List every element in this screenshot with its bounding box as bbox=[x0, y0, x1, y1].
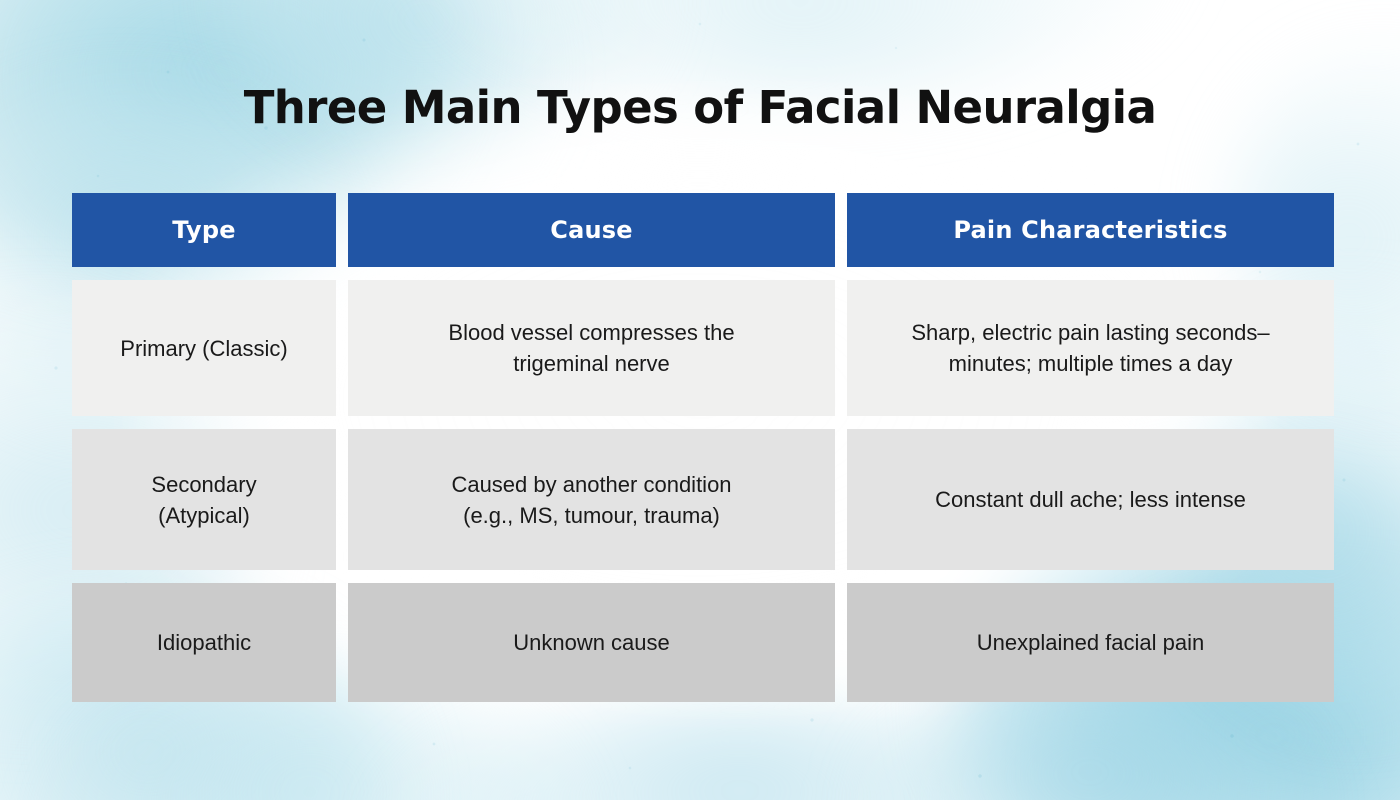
table-header-row: Type Cause Pain Characteristics bbox=[72, 193, 1334, 267]
cell-pain-idiopathic: Unexplained facial pain bbox=[847, 583, 1334, 702]
table-row: Secondary (Atypical) Caused by another c… bbox=[72, 429, 1334, 570]
cell-cause-primary-text: Blood vessel compresses the trigeminal n… bbox=[448, 317, 734, 379]
column-header-pain-characteristics-label: Pain Characteristics bbox=[953, 216, 1227, 244]
cell-pain-secondary-text: Constant dull ache; less intense bbox=[935, 484, 1246, 515]
cell-cause-idiopathic: Unknown cause bbox=[348, 583, 835, 702]
column-header-cause: Cause bbox=[348, 193, 835, 267]
column-header-type: Type bbox=[72, 193, 336, 267]
slide-content: Three Main Types of Facial Neuralgia Typ… bbox=[0, 0, 1400, 800]
cell-type-secondary: Secondary (Atypical) bbox=[72, 429, 336, 570]
cell-type-idiopathic: Idiopathic bbox=[72, 583, 336, 702]
cell-type-primary-text: Primary (Classic) bbox=[120, 333, 287, 364]
cell-type-secondary-text: Secondary (Atypical) bbox=[151, 469, 256, 531]
page-title: Three Main Types of Facial Neuralgia bbox=[0, 80, 1400, 136]
cell-cause-secondary: Caused by another condition (e.g., MS, t… bbox=[348, 429, 835, 570]
cell-pain-idiopathic-text: Unexplained facial pain bbox=[977, 627, 1205, 658]
column-header-cause-label: Cause bbox=[550, 216, 632, 244]
neuralgia-types-table: Type Cause Pain Characteristics Primary … bbox=[72, 193, 1334, 702]
cell-cause-idiopathic-text: Unknown cause bbox=[513, 627, 670, 658]
table-row: Idiopathic Unknown cause Unexplained fac… bbox=[72, 583, 1334, 702]
table-row: Primary (Classic) Blood vessel compresse… bbox=[72, 280, 1334, 416]
cell-pain-primary: Sharp, electric pain lasting seconds– mi… bbox=[847, 280, 1334, 416]
cell-type-primary: Primary (Classic) bbox=[72, 280, 336, 416]
column-header-type-label: Type bbox=[172, 216, 235, 244]
cell-cause-primary: Blood vessel compresses the trigeminal n… bbox=[348, 280, 835, 416]
cell-type-idiopathic-text: Idiopathic bbox=[157, 627, 251, 658]
column-header-pain-characteristics: Pain Characteristics bbox=[847, 193, 1334, 267]
cell-pain-primary-text: Sharp, electric pain lasting seconds– mi… bbox=[911, 317, 1269, 379]
cell-cause-secondary-text: Caused by another condition (e.g., MS, t… bbox=[451, 469, 731, 531]
cell-pain-secondary: Constant dull ache; less intense bbox=[847, 429, 1334, 570]
